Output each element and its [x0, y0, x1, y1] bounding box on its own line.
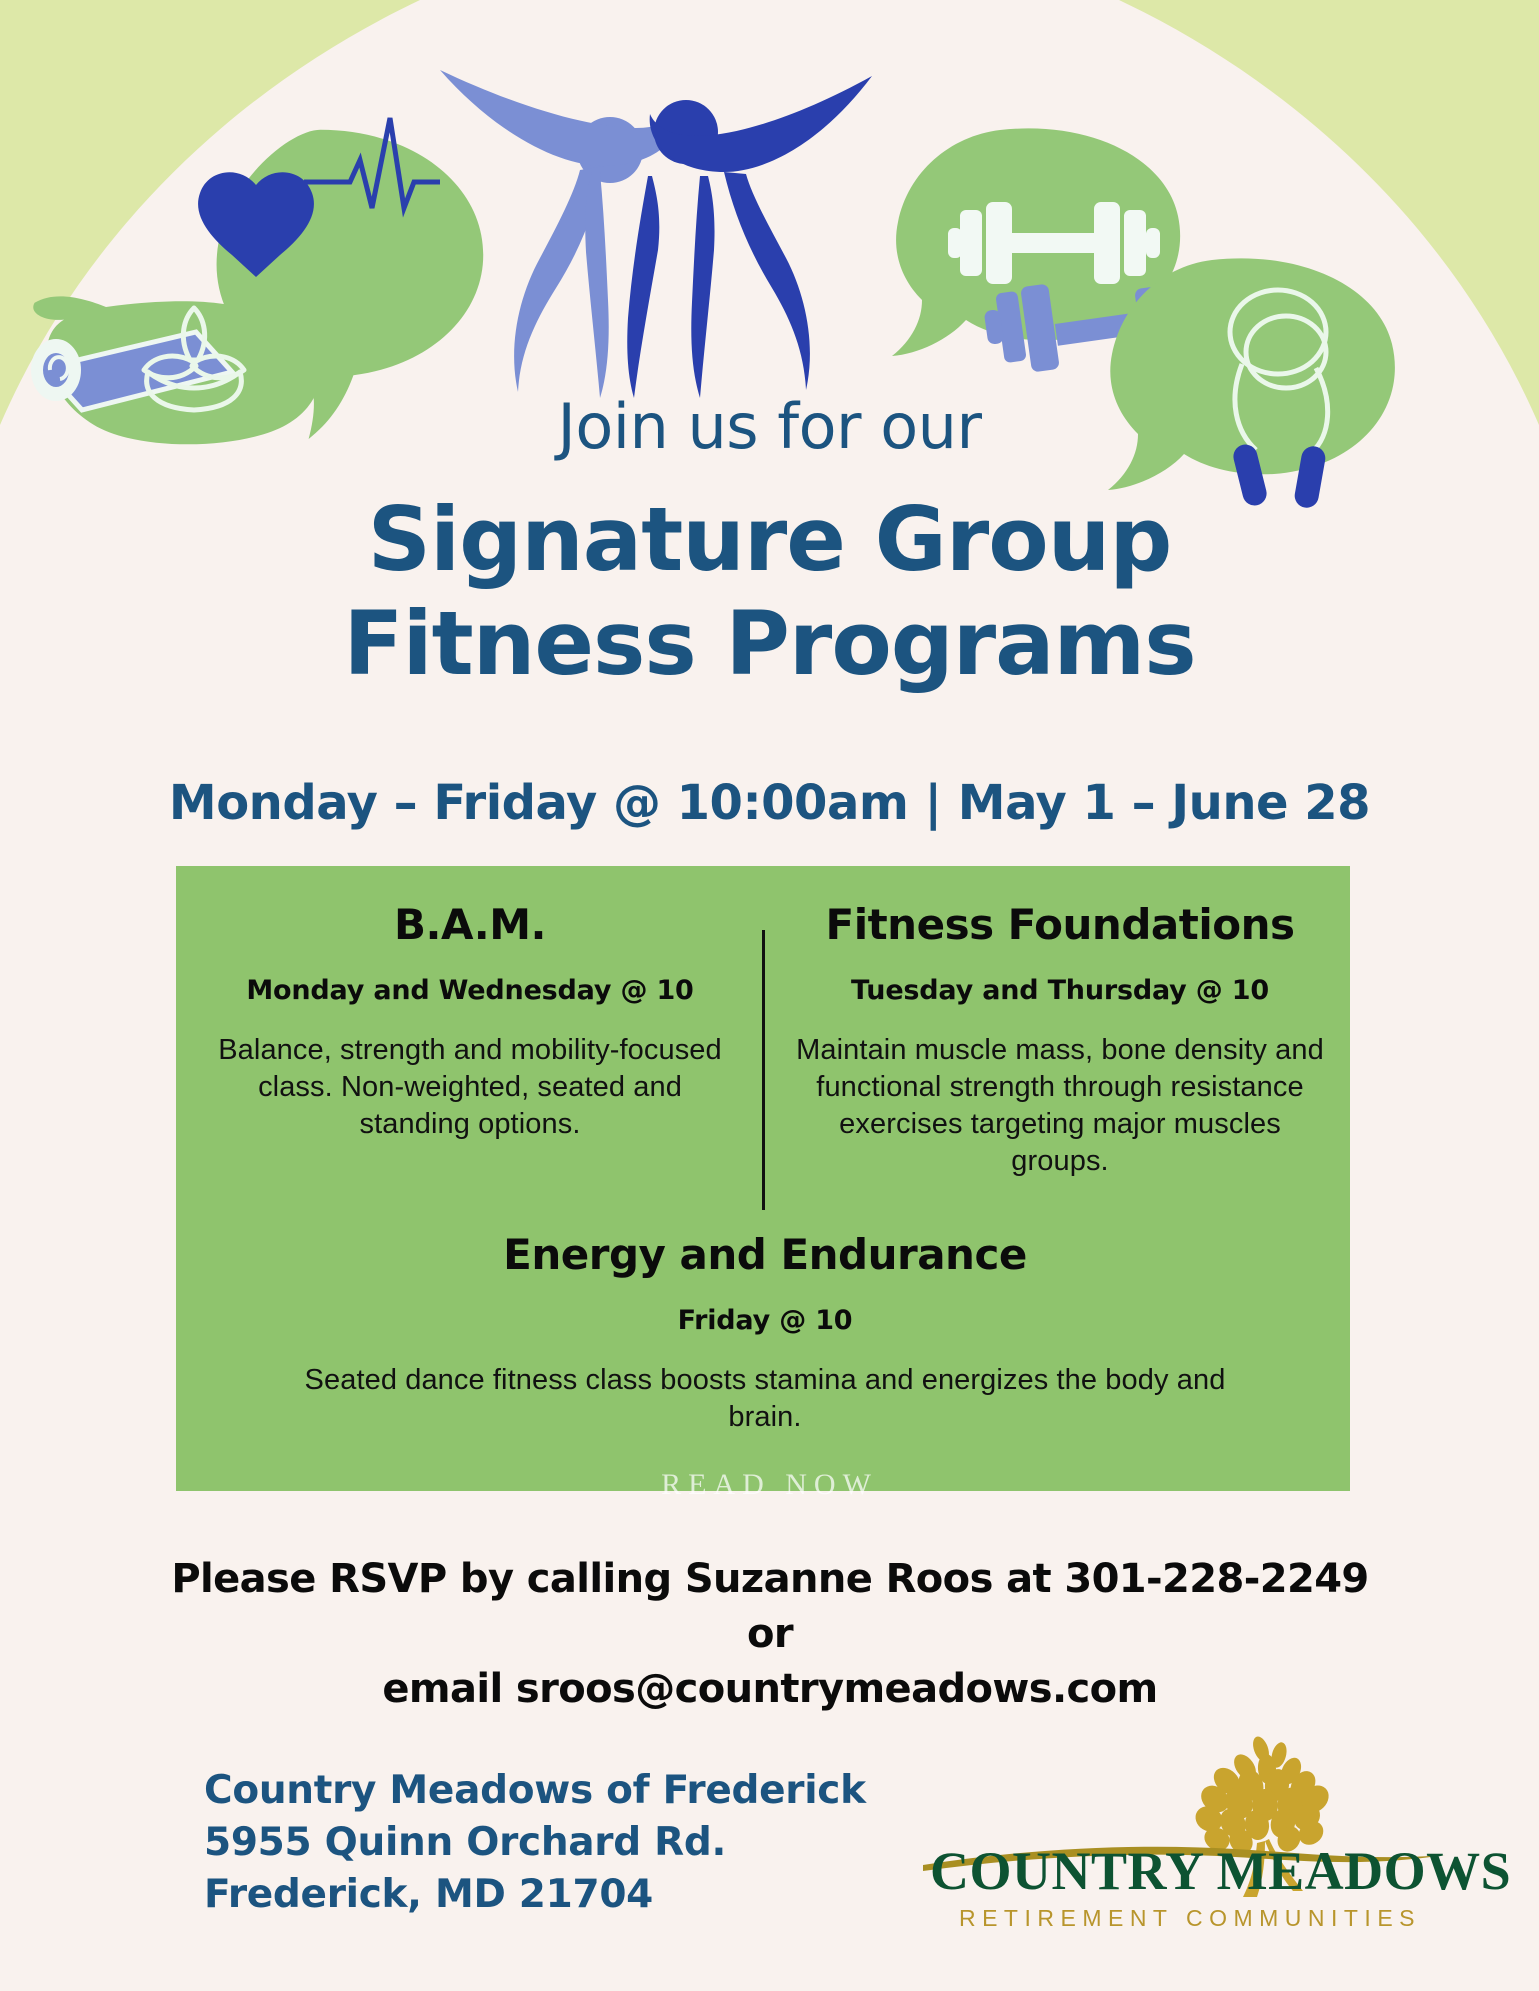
address-line-city: Frederick, MD 21704 [204, 1869, 866, 1921]
program-description: Maintain muscle mass, bone density and f… [790, 1032, 1330, 1180]
program-description: Seated dance fitness class boosts stamin… [300, 1362, 1230, 1436]
program-schedule: Monday and Wednesday @ 10 [200, 975, 740, 1006]
program-description: Balance, strength and mobility-focused c… [200, 1032, 740, 1143]
program-card-fitness-foundations: Fitness Foundations Tuesday and Thursday… [790, 900, 1330, 1180]
page-title: Signature Group Fitness Programs [0, 495, 1539, 689]
program-name: B.A.M. [200, 900, 740, 949]
program-card-bam: B.A.M. Monday and Wednesday @ 10 Balance… [200, 900, 740, 1143]
page-title-line1: Signature Group [368, 488, 1172, 591]
flyer-page: Join us for our Signature Group Fitness … [0, 0, 1539, 1991]
address-line-street: 5955 Quinn Orchard Rd. [204, 1817, 866, 1869]
schedule-line: Monday – Friday @ 10:00am | May 1 – June… [0, 775, 1539, 831]
column-divider [762, 930, 765, 1210]
program-name: Fitness Foundations [790, 900, 1330, 949]
logo-wordmark: COUNTRY MEADOWS [930, 1840, 1450, 1902]
rsvp-text: Please RSVP by calling Suzanne Roos at 3… [170, 1552, 1370, 1718]
page-title-line2: Fitness Programs [0, 599, 1539, 689]
address-line-community: Country Meadows of Frederick [204, 1765, 866, 1817]
rsvp-line1: Please RSVP by calling Suzanne Roos at 3… [170, 1552, 1370, 1662]
active-people-icon [440, 70, 872, 398]
program-schedule: Friday @ 10 [300, 1305, 1230, 1336]
program-card-energy-endurance: Energy and Endurance Friday @ 10 Seated … [300, 1230, 1230, 1436]
program-name: Energy and Endurance [300, 1230, 1230, 1279]
address-block: Country Meadows of Frederick 5955 Quinn … [204, 1765, 866, 1921]
program-schedule: Tuesday and Thursday @ 10 [790, 975, 1330, 1006]
eyebrow-text: Join us for our [0, 390, 1539, 463]
jump-rope-icon [1108, 258, 1395, 509]
read-now-watermark: READ NOW [0, 1468, 1539, 1502]
rsvp-line2: email sroos@countrymeadows.com [170, 1662, 1370, 1717]
logo-tagline: RETIREMENT COMMUNITIES [930, 1905, 1450, 1932]
